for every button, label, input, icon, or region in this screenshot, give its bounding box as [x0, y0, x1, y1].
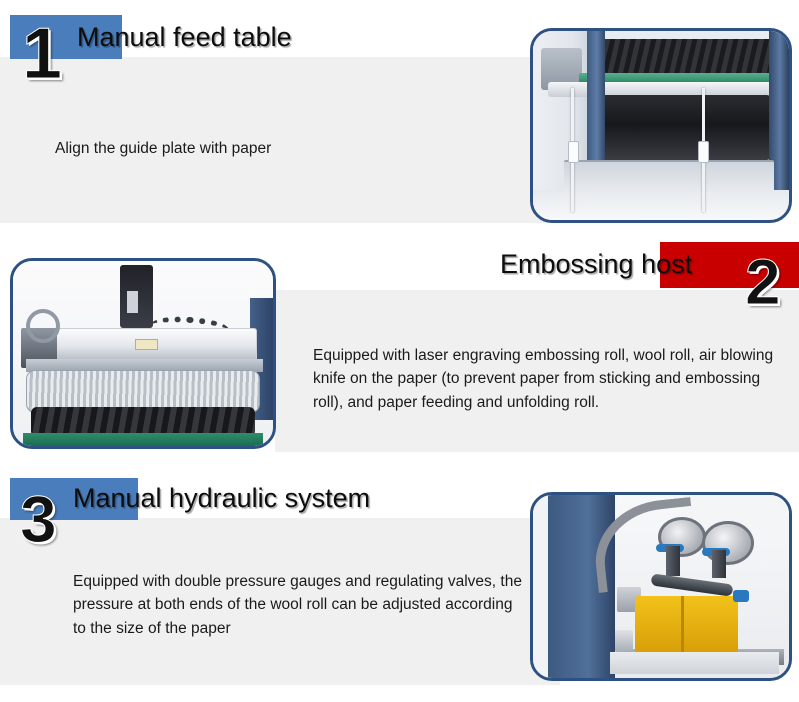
section-3-body: Equipped with double pressure gauges and…	[73, 570, 523, 640]
embossing-host-photo	[10, 258, 276, 449]
section-2-number: 2	[745, 250, 780, 314]
section-embossing-host: Embossing host 2 Equipped with laser eng…	[0, 238, 799, 458]
feature-sheet: 1 Manual feed table Align the guide plat…	[0, 0, 799, 702]
section-manual-feed-table: 1 Manual feed table Align the guide plat…	[0, 0, 799, 232]
section-3-number: 3	[20, 486, 56, 552]
section-manual-hydraulic-system: 3 Manual hydraulic system Equipped with …	[0, 470, 799, 702]
section-1-body: Align the guide plate with paper	[55, 137, 475, 160]
section-2-body: Equipped with laser engraving embossing …	[313, 344, 783, 414]
section-2-title: Embossing host	[500, 251, 692, 278]
section-2-title-part-2: host	[641, 249, 692, 279]
section-3-title: Manual hydraulic system	[73, 485, 370, 512]
section-2-title-part-1: Embossing	[500, 249, 641, 279]
manual-feed-table-photo	[530, 28, 792, 223]
section-1-number: 1	[22, 18, 61, 90]
section-1-title: Manual feed table	[77, 24, 292, 51]
manual-hydraulic-system-photo	[530, 492, 792, 681]
